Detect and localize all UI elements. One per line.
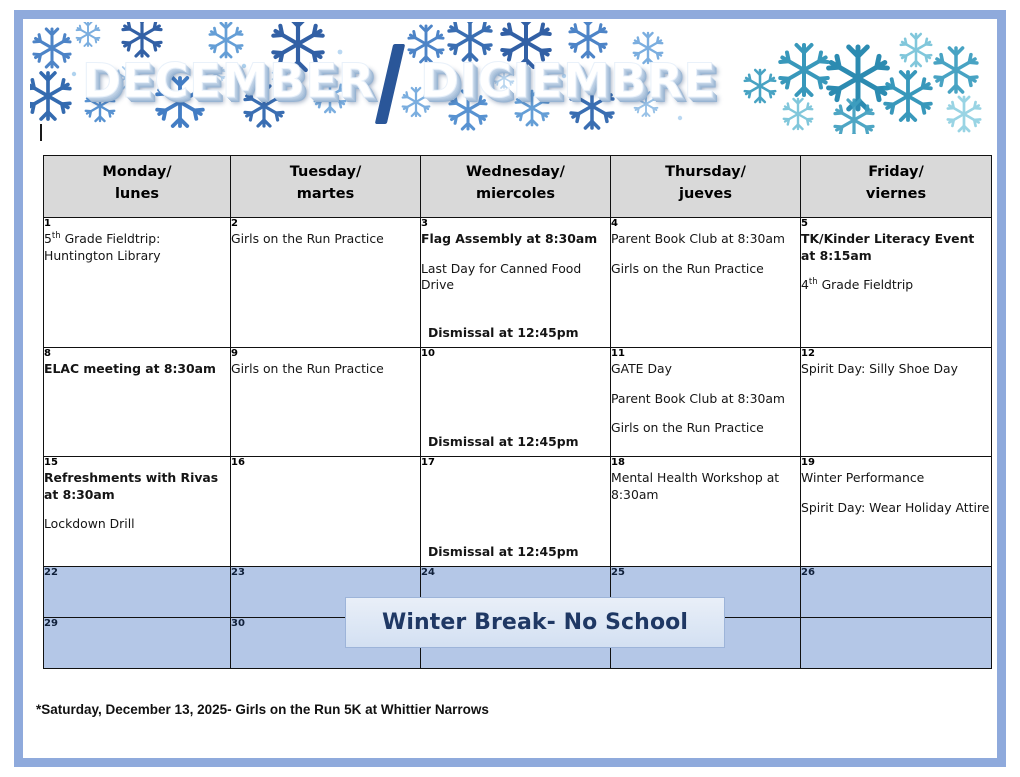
calendar-footnote: *Saturday, December 13, 2025- Girls on t… (36, 702, 489, 717)
day-event: GATE Day (611, 361, 800, 378)
day-number: 5 (801, 218, 991, 229)
col-head-es: viernes (801, 184, 991, 205)
calendar-day-cell[interactable]: 15Refreshments with Rivas at 8:30amLockd… (44, 457, 231, 567)
calendar-day-cell[interactable]: 12Spirit Day: Silly Shoe Day (801, 348, 992, 457)
day-event: Last Day for Canned Food Drive (421, 261, 610, 294)
day-number: 17 (421, 457, 610, 468)
text-cursor-caret (40, 124, 42, 141)
day-event: 4th Grade Fieldtrip (801, 277, 991, 294)
column-header-monday: Monday/ lunes (44, 156, 231, 218)
day-event: Girls on the Run Practice (231, 231, 420, 248)
day-event: TK/Kinder Literacy Event at 8:15am (801, 231, 991, 264)
calendar-day-cell[interactable]: 26 (801, 567, 992, 618)
calendar-day-cell[interactable]: 4Parent Book Club at 8:30amGirls on the … (611, 218, 801, 348)
calendar-day-cell[interactable]: 11GATE DayParent Book Club at 8:30amGirl… (611, 348, 801, 457)
month-banner: DECEMBER DICIEMBRE (30, 22, 990, 134)
day-event: Spirit Day: Silly Shoe Day (801, 361, 991, 378)
day-number: 19 (801, 457, 991, 468)
banner-title-english: DECEMBER (82, 54, 375, 109)
day-event: Mental Health Workshop at 8:30am (611, 470, 800, 503)
day-dismissal-note: Dismissal at 12:45pm (428, 434, 603, 451)
day-dismissal-note: Dismissal at 12:45pm (428, 325, 603, 342)
banner-title-spanish: DICIEMBRE (420, 54, 716, 109)
winter-break-label: Winter Break- No School (382, 610, 688, 635)
day-event: Refreshments with Rivas at 8:30am (44, 470, 230, 503)
winter-break-callout: Winter Break- No School (345, 597, 725, 648)
day-number: 12 (801, 348, 991, 359)
day-number: 25 (611, 567, 800, 578)
day-number: 22 (44, 567, 230, 578)
calendar-day-cell[interactable]: 5TK/Kinder Literacy Event at 8:15am4th G… (801, 218, 992, 348)
calendar-day-cell[interactable]: 16 (231, 457, 421, 567)
snowflake-cluster-right (730, 28, 990, 134)
calendar-day-cell[interactable]: 17Dismissal at 12:45pm (421, 457, 611, 567)
calendar-day-cell[interactable]: 3Flag Assembly at 8:30amLast Day for Can… (421, 218, 611, 348)
day-number: 23 (231, 567, 420, 578)
column-header-friday: Friday/ viernes (801, 156, 992, 218)
day-number: 8 (44, 348, 230, 359)
calendar-week-row: 15Refreshments with Rivas at 8:30amLockd… (44, 457, 992, 567)
day-event: ELAC meeting at 8:30am (44, 361, 230, 378)
calendar-day-cell[interactable]: 9Girls on the Run Practice (231, 348, 421, 457)
day-number: 3 (421, 218, 610, 229)
col-head-en: Friday/ (801, 162, 991, 183)
col-head-en: Thursday/ (611, 162, 800, 183)
day-number: 15 (44, 457, 230, 468)
day-dismissal-note: Dismissal at 12:45pm (428, 544, 603, 561)
col-head-en: Tuesday/ (231, 162, 420, 183)
day-event: Girls on the Run Practice (611, 420, 800, 437)
day-event: Girls on the Run Practice (231, 361, 420, 378)
day-number: 24 (421, 567, 610, 578)
day-number: 4 (611, 218, 800, 229)
col-head-en: Wednesday/ (421, 162, 610, 183)
col-head-en: Monday/ (44, 162, 230, 183)
calendar-day-cell[interactable]: 2Girls on the Run Practice (231, 218, 421, 348)
day-event: Lockdown Drill (44, 516, 230, 533)
day-event: Parent Book Club at 8:30am (611, 391, 800, 408)
day-number: 10 (421, 348, 610, 359)
day-number: 26 (801, 567, 991, 578)
calendar-week-row: 15th Grade Fieldtrip: Huntington Library… (44, 218, 992, 348)
day-event: Spirit Day: Wear Holiday Attire (801, 500, 991, 517)
calendar-week-row: 8ELAC meeting at 8:30am9Girls on the Run… (44, 348, 992, 457)
calendar-day-cell[interactable]: 19Winter PerformanceSpirit Day: Wear Hol… (801, 457, 992, 567)
monthly-calendar-table: Monday/ lunes Tuesday/ martes Wednesday/… (43, 155, 992, 669)
day-number: 29 (44, 618, 230, 629)
day-number: 11 (611, 348, 800, 359)
calendar-day-cell[interactable]: 15th Grade Fieldtrip: Huntington Library (44, 218, 231, 348)
day-number: 18 (611, 457, 800, 468)
day-event: Winter Performance (801, 470, 991, 487)
day-event: Flag Assembly at 8:30am (421, 231, 610, 248)
column-header-wednesday: Wednesday/ miercoles (421, 156, 611, 218)
calendar-day-cell[interactable]: 10Dismissal at 12:45pm (421, 348, 611, 457)
day-number: 16 (231, 457, 420, 468)
column-header-thursday: Thursday/ jueves (611, 156, 801, 218)
col-head-es: jueves (611, 184, 800, 205)
day-number: 2 (231, 218, 420, 229)
calendar-day-cell[interactable]: 22 (44, 567, 231, 618)
col-head-es: martes (231, 184, 420, 205)
calendar-day-cell[interactable]: 18Mental Health Workshop at 8:30am (611, 457, 801, 567)
calendar-day-cell[interactable] (801, 618, 992, 669)
col-head-es: lunes (44, 184, 230, 205)
day-number: 1 (44, 218, 230, 229)
calendar-day-cell[interactable]: 8ELAC meeting at 8:30am (44, 348, 231, 457)
col-head-es: miercoles (421, 184, 610, 205)
day-event: Girls on the Run Practice (611, 261, 800, 278)
column-header-tuesday: Tuesday/ martes (231, 156, 421, 218)
day-event: Parent Book Club at 8:30am (611, 231, 800, 248)
day-event: 5th Grade Fieldtrip: Huntington Library (44, 231, 230, 264)
calendar-page: DECEMBER DICIEMBRE Monday/ lunes Tuesday… (0, 0, 1020, 777)
calendar-day-cell[interactable]: 29 (44, 618, 231, 669)
calendar-header-row: Monday/ lunes Tuesday/ martes Wednesday/… (44, 156, 992, 218)
day-number: 9 (231, 348, 420, 359)
